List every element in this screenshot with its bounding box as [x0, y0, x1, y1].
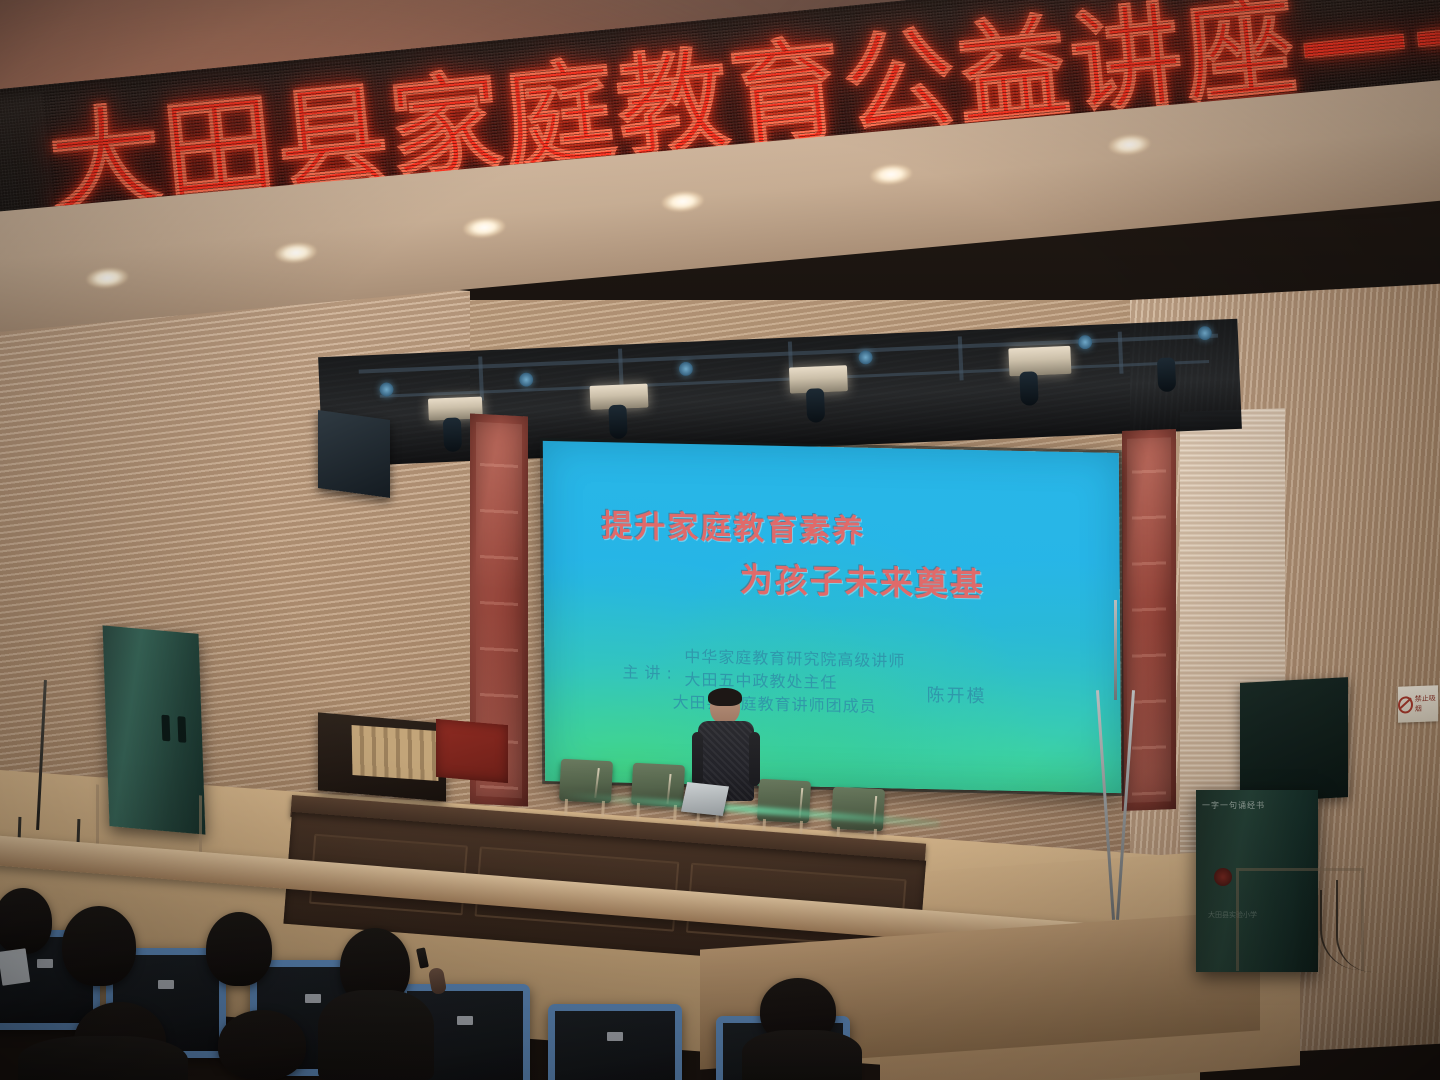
audience-seat — [548, 1004, 682, 1080]
projection-screen: 提升家庭教育素养 为孩子未来奠基 主讲: 中华家庭教育研究院高级讲师 大田五中政… — [543, 441, 1121, 793]
slide-speaker-name: 陈开模 — [926, 681, 986, 708]
slide-title-line1: 提升家庭教育素养 — [601, 500, 865, 551]
audience-head — [206, 912, 272, 986]
presenter-laptop — [681, 782, 729, 816]
presenter-hair — [708, 688, 742, 706]
audience-shoulders — [18, 1036, 188, 1080]
audience-head — [218, 1010, 306, 1080]
stage-spotlight — [1157, 357, 1176, 392]
ceiling-speaker-box — [318, 410, 390, 498]
downlight-icon — [462, 216, 506, 240]
stage-prop-panels — [352, 725, 439, 781]
no-smoking-label: 禁止吸烟 — [1415, 693, 1438, 714]
stage-fresnel-light — [1008, 346, 1071, 377]
moving-head-light — [858, 350, 873, 365]
slide-title-line2: 为孩子未来奠基 — [740, 553, 985, 606]
red-backdrop-cloth — [436, 719, 508, 783]
downlight-icon — [274, 241, 318, 265]
side-display-monitor — [1240, 677, 1348, 803]
audience-head — [62, 906, 136, 986]
screen-inner-shadow — [543, 441, 1121, 793]
auditorium-photo: 大田县家庭教育公益讲座——大田实小专场 — [0, 0, 1440, 1080]
moving-head-light — [1078, 335, 1093, 350]
lectern-top-text: 一字一句诵经书 — [1202, 800, 1312, 811]
tripod-leg — [1114, 600, 1117, 700]
no-smoking-sign: 禁止吸烟 — [1398, 685, 1438, 722]
downlight-icon — [85, 266, 129, 290]
moving-head-light — [519, 372, 534, 387]
moving-head-light — [679, 362, 694, 377]
audience-head — [0, 888, 52, 954]
stage-spotlight — [1019, 371, 1038, 406]
downlight-icon — [661, 190, 705, 214]
audience-shoulders — [742, 1030, 862, 1080]
slide-speaker-label: 主讲: — [622, 659, 678, 684]
downlight-icon — [869, 163, 913, 187]
stage-spotlight — [443, 417, 462, 452]
audience-paper — [0, 948, 30, 986]
stage-chair — [831, 787, 885, 832]
audience-shoulders — [318, 990, 434, 1080]
stage-spotlight — [608, 404, 627, 439]
stage-spotlight — [806, 388, 825, 423]
no-smoking-icon — [1398, 696, 1413, 714]
lectern-emblem-icon — [1214, 868, 1232, 886]
moving-head-light — [1198, 326, 1213, 341]
downlight-icon — [1108, 133, 1152, 157]
presenter-arm-left — [692, 732, 703, 786]
presenter-arm-right — [749, 732, 760, 786]
